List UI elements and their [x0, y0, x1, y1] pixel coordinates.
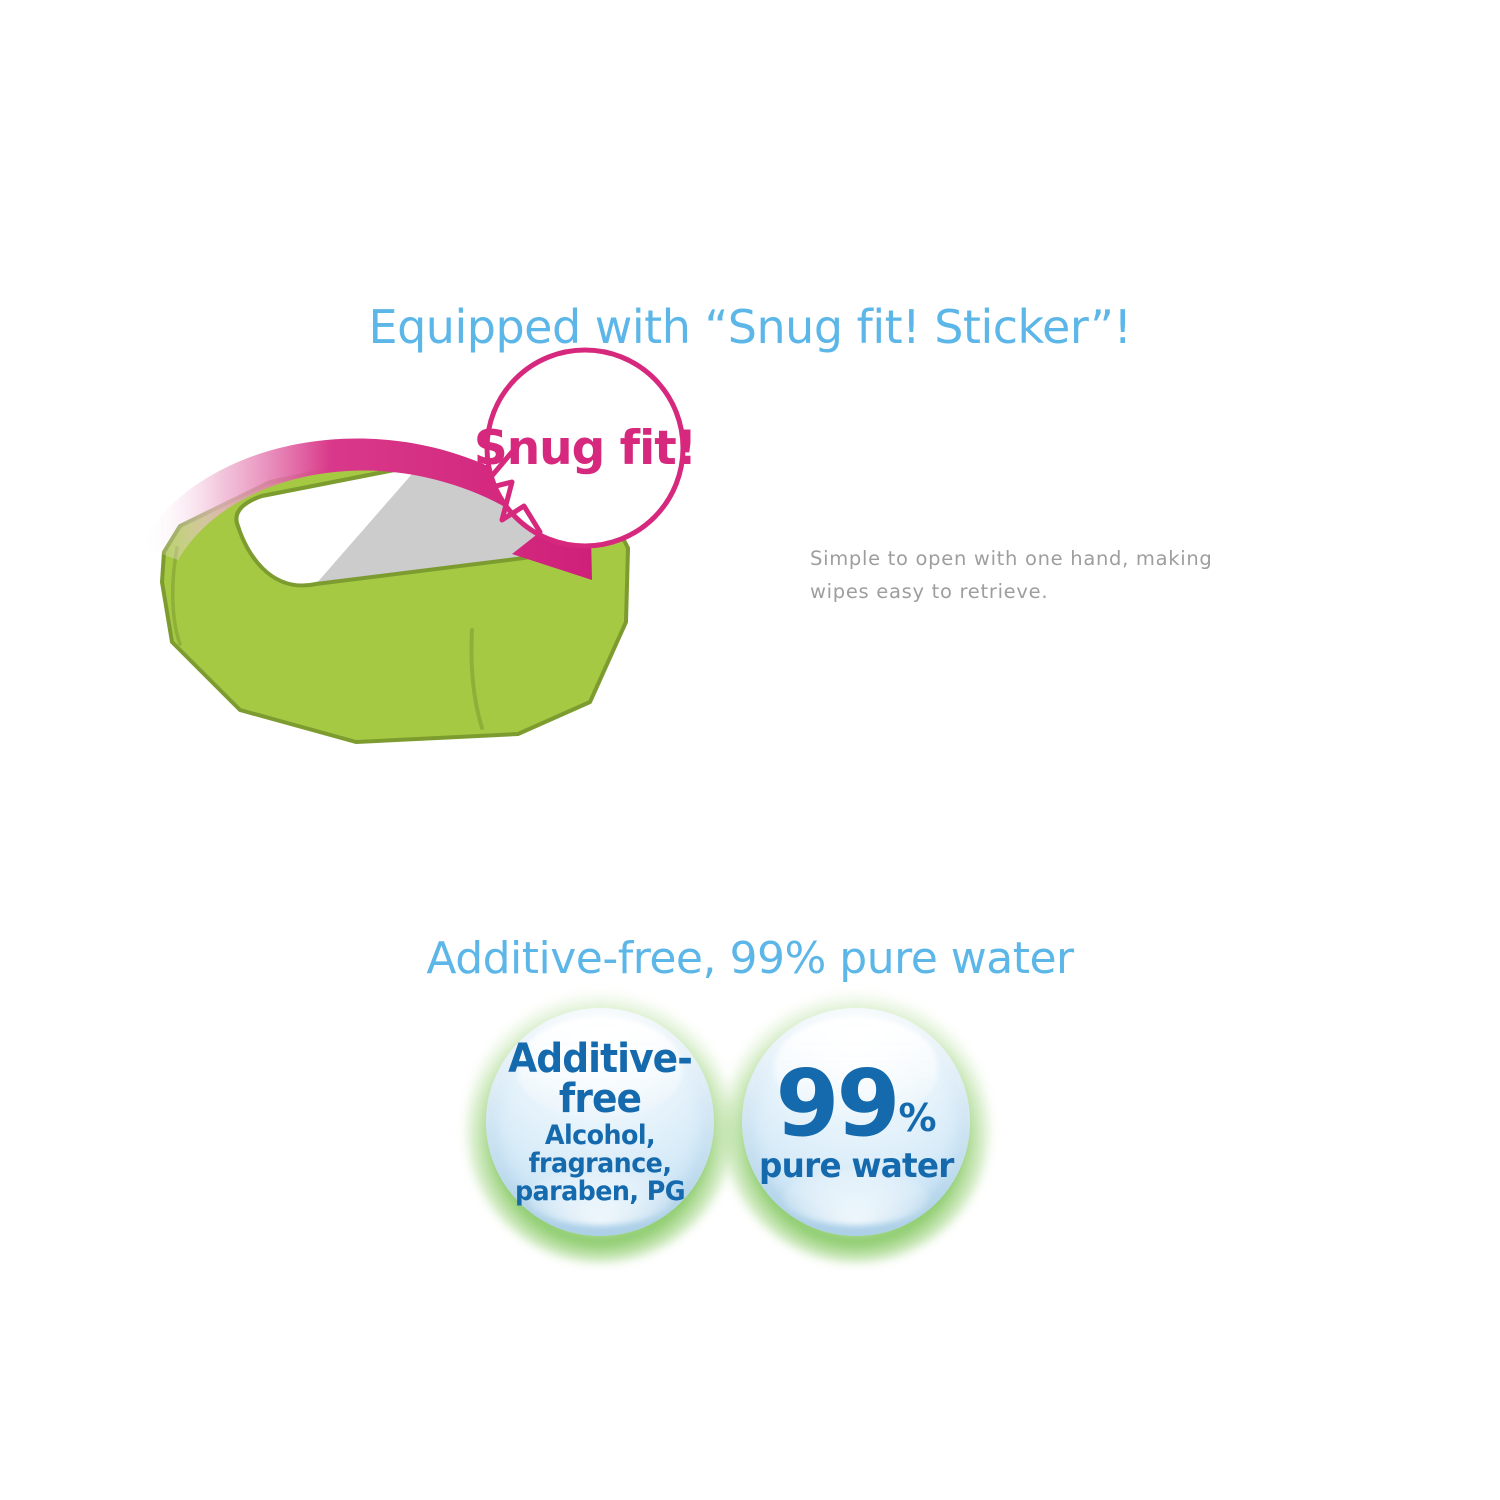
badge-percent-row: 99 %: [775, 1061, 936, 1147]
badge-subtitle-additive-free: Alcohol, fragrance, paraben, PG: [493, 1122, 707, 1206]
badge-row: Additive-free Alcohol, fragrance, parabe…: [470, 1000, 990, 1250]
svg-text:Snug fit!: Snug fit!: [474, 421, 696, 476]
badge-subtitle-line-2: paraben, PG: [493, 1178, 707, 1206]
wipes-pack-illustration: Snug fit!: [120, 330, 760, 760]
badge-text-group: Additive-free Alcohol, fragrance, parabe…: [486, 1008, 714, 1236]
badge-subtitle-line-1: Alcohol, fragrance,: [529, 1120, 672, 1179]
page-title-additive-free: Additive-free, 99% pure water: [0, 933, 1500, 984]
badge-pure-water: 99 % pure water: [742, 1008, 970, 1236]
badge-number-99: 99: [775, 1061, 897, 1147]
snug-fit-speech-bubble: Snug fit!: [474, 350, 696, 546]
badge-caption-pure-water: pure water: [759, 1149, 954, 1183]
badge-text-group: 99 % pure water: [742, 1008, 970, 1236]
badge-additive-free: Additive-free Alcohol, fragrance, parabe…: [486, 1008, 714, 1236]
badge-title-additive-free: Additive-free: [493, 1039, 707, 1119]
feature-description: Simple to open with one hand, making wip…: [810, 542, 1240, 608]
badge-percent-sign: %: [898, 1099, 936, 1137]
